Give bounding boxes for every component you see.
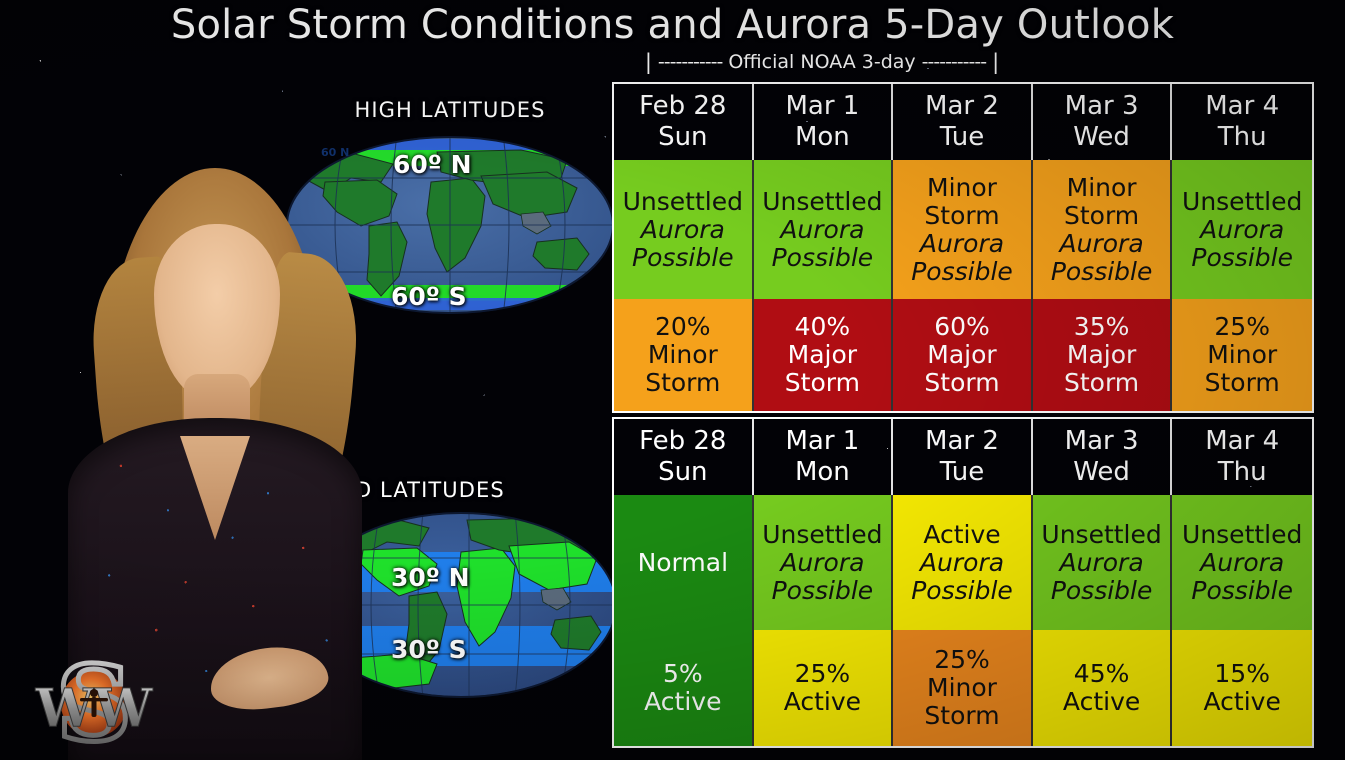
caption-right-pipe: | — [992, 50, 999, 74]
probability-level: Active — [1063, 688, 1140, 716]
probability-cell[interactable]: 20%MinorStorm — [614, 299, 754, 411]
mid-latitudes-forecast-table: Feb 28SunMar 1MonMar 2TueMar 3WedMar 4Th… — [612, 417, 1314, 748]
condition-level: Minor — [1067, 174, 1137, 202]
caption-left-dashes: ----------- — [658, 51, 722, 73]
probability-cell[interactable]: 5%Active — [614, 630, 754, 746]
day-weekday: Sun — [658, 123, 707, 152]
day-header-cell[interactable]: Mar 1Mon — [754, 84, 894, 160]
mid-lat-north-label: 30º N — [391, 563, 470, 592]
day-date: Mar 1 — [785, 427, 859, 456]
aurora-note: Aurora — [920, 549, 1004, 577]
aurora-note: Possible — [1051, 258, 1153, 286]
day-header-cell[interactable]: Mar 4Thu — [1172, 84, 1312, 160]
probability-cell[interactable]: 25%MinorStorm — [1172, 299, 1312, 411]
probability-cell[interactable]: 45%Active — [1033, 630, 1173, 746]
probability-cell[interactable]: 25%Active — [754, 630, 894, 746]
probability-level: Storm — [924, 702, 999, 730]
day-weekday: Tue — [940, 123, 984, 152]
space-weather-woman-logo: S WW — [16, 648, 172, 756]
probability-cell[interactable]: 35%MajorStorm — [1033, 299, 1173, 411]
day-date: Mar 2 — [925, 427, 999, 456]
condition-level: Unsettled — [762, 188, 882, 216]
page-title: Solar Storm Conditions and Aurora 5-Day … — [0, 2, 1345, 48]
day-weekday: Thu — [1218, 458, 1267, 487]
day-header-cell[interactable]: Mar 3Wed — [1033, 84, 1173, 160]
probability-percent: 15% — [1214, 660, 1270, 688]
day-date: Mar 4 — [1205, 92, 1279, 121]
day-header-cell[interactable]: Mar 1Mon — [754, 419, 894, 495]
probability-level: Minor — [927, 674, 997, 702]
probability-level: Minor — [1207, 341, 1277, 369]
day-header-cell[interactable]: Mar 3Wed — [1033, 419, 1173, 495]
day-header-cell[interactable]: Mar 2Tue — [893, 84, 1033, 160]
condition-level: Minor — [927, 174, 997, 202]
map-tick-60n-label: 60 N — [321, 146, 349, 159]
day-date: Mar 1 — [785, 92, 859, 121]
day-date: Mar 4 — [1205, 427, 1279, 456]
high-latitudes-forecast-table: Feb 28SunMar 1MonMar 2TueMar 3WedMar 4Th… — [612, 82, 1314, 413]
condition-cell[interactable]: UnsettledAuroraPossible — [1033, 495, 1173, 630]
probability-level: Active — [1204, 688, 1281, 716]
day-header-cell[interactable]: Feb 28Sun — [614, 84, 754, 160]
condition-cell[interactable]: UnsettledAuroraPossible — [1172, 160, 1312, 299]
probability-percent: 25% — [795, 660, 851, 688]
probability-percent: 25% — [1214, 313, 1270, 341]
high-latitudes-label: HIGH LATITUDES — [285, 98, 615, 122]
aurora-note: Aurora — [1060, 230, 1144, 258]
day-weekday: Thu — [1218, 123, 1267, 152]
probability-cell[interactable]: 25%MinorStorm — [893, 630, 1033, 746]
condition-cell[interactable]: UnsettledAuroraPossible — [614, 160, 754, 299]
condition-level: Active — [923, 521, 1000, 549]
day-weekday: Tue — [940, 458, 984, 487]
probability-percent: 60% — [934, 313, 990, 341]
condition-level: Storm — [924, 202, 999, 230]
probability-percent: 45% — [1074, 660, 1130, 688]
sww-logo-icon: S WW — [16, 648, 172, 756]
caption-text: Official NOAA 3-day — [728, 51, 915, 73]
condition-level: Unsettled — [1041, 521, 1161, 549]
aurora-note: Possible — [911, 577, 1013, 605]
probability-level: Major — [788, 341, 857, 369]
aurora-note: Aurora — [1060, 549, 1144, 577]
condition-cell[interactable]: UnsettledAuroraPossible — [1172, 495, 1312, 630]
aurora-note: Possible — [1191, 244, 1293, 272]
world-map-mid-latitudes: 60 S — [333, 508, 618, 703]
day-date: Feb 28 — [639, 92, 726, 121]
condition-level: Unsettled — [623, 188, 743, 216]
high-lat-south-label: 60º S — [391, 282, 467, 311]
aurora-note: Aurora — [780, 549, 864, 577]
day-weekday: Wed — [1073, 458, 1130, 487]
day-weekday: Wed — [1073, 123, 1130, 152]
probability-level: Minor — [648, 341, 718, 369]
probability-level: Major — [927, 341, 996, 369]
probability-percent: 5% — [663, 660, 703, 688]
condition-level: Normal — [638, 549, 728, 577]
probability-level: Storm — [1064, 369, 1139, 397]
day-header-cell[interactable]: Mar 2Tue — [893, 419, 1033, 495]
condition-cell[interactable]: MinorStormAuroraPossible — [1033, 160, 1173, 299]
condition-cell[interactable]: ActiveAuroraPossible — [893, 495, 1033, 630]
condition-level: Unsettled — [762, 521, 882, 549]
condition-cell[interactable]: Normal — [614, 495, 754, 630]
probability-level: Storm — [924, 369, 999, 397]
mid-lat-south-label: 30º S — [391, 635, 467, 664]
probability-cell[interactable]: 40%MajorStorm — [754, 299, 894, 411]
condition-level: Unsettled — [1182, 188, 1302, 216]
probability-cell[interactable]: 15%Active — [1172, 630, 1312, 746]
day-header-cell[interactable]: Feb 28Sun — [614, 419, 754, 495]
probability-percent: 40% — [795, 313, 851, 341]
probability-level: Active — [644, 688, 721, 716]
mid-latitudes-globe-block: D LATITUDES — [333, 478, 618, 708]
probability-percent: 20% — [655, 313, 711, 341]
day-date: Mar 3 — [1065, 427, 1139, 456]
aurora-note: Possible — [1191, 577, 1293, 605]
aurora-note: Possible — [772, 244, 874, 272]
probability-level: Storm — [785, 369, 860, 397]
caption-left-pipe: | — [645, 50, 652, 74]
aurora-note: Aurora — [641, 216, 725, 244]
condition-cell[interactable]: UnsettledAuroraPossible — [754, 160, 894, 299]
high-lat-north-label: 60º N — [393, 150, 472, 179]
aurora-note: Possible — [772, 577, 874, 605]
probability-level: Storm — [1205, 369, 1280, 397]
day-weekday: Mon — [795, 458, 850, 487]
probability-level: Active — [784, 688, 861, 716]
condition-level: Storm — [1064, 202, 1139, 230]
probability-cell[interactable]: 60%MajorStorm — [893, 299, 1033, 411]
noaa-3day-caption: | ----------- Official NOAA 3-day ------… — [612, 50, 1032, 74]
probability-level: Major — [1067, 341, 1136, 369]
day-weekday: Sun — [658, 458, 707, 487]
broadcast-frame: Solar Storm Conditions and Aurora 5-Day … — [0, 0, 1345, 760]
aurora-note: Aurora — [1200, 216, 1284, 244]
aurora-note: Possible — [911, 258, 1013, 286]
condition-cell[interactable]: MinorStormAuroraPossible — [893, 160, 1033, 299]
probability-percent: 25% — [934, 646, 990, 674]
aurora-note: Aurora — [920, 230, 1004, 258]
condition-level: Unsettled — [1182, 521, 1302, 549]
day-date: Mar 2 — [925, 92, 999, 121]
mid-latitudes-label: D LATITUDES — [333, 478, 618, 502]
probability-percent: 35% — [1074, 313, 1130, 341]
condition-cell[interactable]: UnsettledAuroraPossible — [754, 495, 894, 630]
day-date: Feb 28 — [639, 427, 726, 456]
mid-latitudes-globe: 60 S 30º N 30º S — [333, 508, 618, 708]
caption-right-dashes: ----------- — [922, 51, 986, 73]
day-date: Mar 3 — [1065, 92, 1139, 121]
aurora-note: Aurora — [1200, 549, 1284, 577]
day-weekday: Mon — [795, 123, 850, 152]
aurora-note: Aurora — [780, 216, 864, 244]
aurora-note: Possible — [632, 244, 734, 272]
day-header-cell[interactable]: Mar 4Thu — [1172, 419, 1312, 495]
aurora-note: Possible — [1051, 577, 1153, 605]
probability-level: Storm — [645, 369, 720, 397]
